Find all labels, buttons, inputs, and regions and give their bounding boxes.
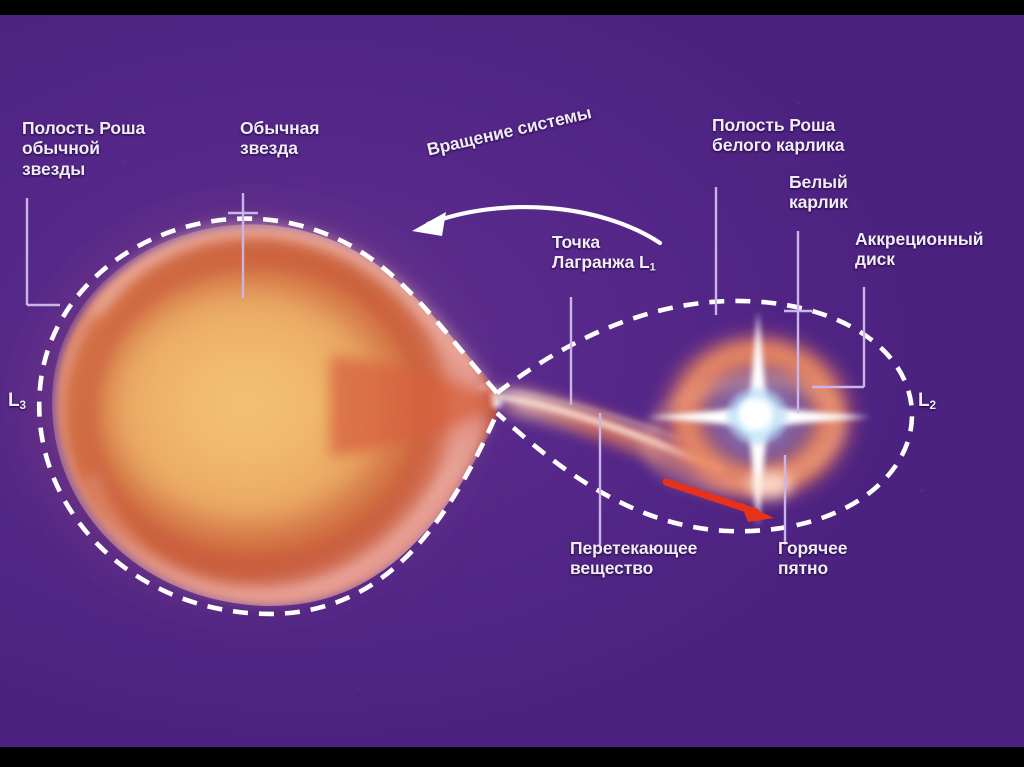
label-l3-subscript: 3 <box>20 399 26 412</box>
label-lagrange-point: Точка Лагранжа L1 <box>552 232 656 275</box>
label-hot-spot: Горячее пятно <box>778 538 847 579</box>
letterbox-bar-bottom <box>0 747 1024 767</box>
l1-crossing-point <box>492 398 502 408</box>
label-roche-lobe-white-dwarf: Полость Роша белого карлика <box>712 115 844 156</box>
white-dwarf-group <box>641 311 870 527</box>
white-dwarf-center <box>739 399 771 429</box>
label-l2-subscript: 2 <box>930 399 936 412</box>
leader-roche-star <box>27 198 60 305</box>
label-roche-lobe-normal-star: Полость Роша обычной звезды <box>22 118 145 179</box>
label-lagrange-subscript: 1 <box>650 262 656 274</box>
label-l3-text: L <box>8 390 20 411</box>
label-l2-point: L2 <box>918 390 936 413</box>
label-l3-point: L3 <box>8 390 26 413</box>
label-white-dwarf: Белый карлик <box>789 172 848 213</box>
label-accretion-disk: Аккреционный диск <box>855 229 983 270</box>
letterbox-bar-top <box>0 0 1024 15</box>
label-l2-text: L <box>918 390 930 411</box>
label-normal-star: Обычная звезда <box>240 118 319 159</box>
label-flowing-matter: Перетекающее вещество <box>570 538 697 579</box>
diagram-stage: Полость Роша обычной звезды Обычная звез… <box>0 0 1024 767</box>
label-lagrange-text: Точка Лагранжа L <box>552 232 650 272</box>
